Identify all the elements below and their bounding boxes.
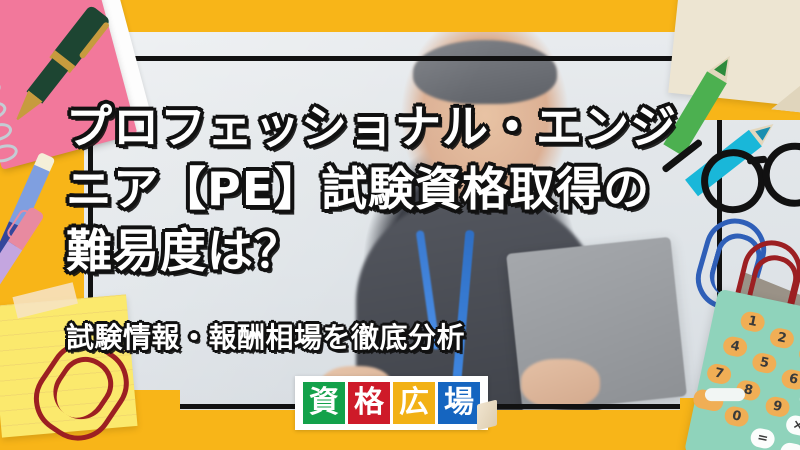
headline-block: プロフェッショナル・エンジ ニア【PE】試験資格取得の 難易度は？: [66, 96, 746, 282]
calc-key-0: 0: [723, 405, 750, 429]
logo-char-4: 場: [438, 382, 480, 424]
calc-key-equals: =: [749, 427, 776, 450]
calc-key-multiply: ×: [784, 414, 800, 438]
logo-char-3: 広: [393, 382, 435, 424]
subtitle: 試験情報・報酬相場を徹底分析: [66, 318, 465, 358]
banner-root: プロフェッショナル・エンジ ニア【PE】試験資格取得の 難易度は？ 試験情報・報…: [0, 0, 800, 450]
calc-key-2: 2: [768, 326, 795, 350]
logo-page-flap: [477, 400, 497, 431]
headline-line-3: 難易度は？: [66, 220, 746, 282]
logo-char-1: 資: [303, 382, 345, 424]
site-logo[interactable]: 資 格 広 場: [295, 376, 488, 430]
calc-key-1: 1: [739, 310, 766, 334]
paper-sheet: [668, 0, 800, 107]
calculator-keypad: 1 2 3 4 5 6 7 8 9 0 ÷ × = −: [697, 306, 800, 450]
cream-paper: [668, 0, 800, 107]
calc-key-4: 4: [721, 335, 748, 359]
headline-line-2: ニア【PE】試験資格取得の: [66, 158, 746, 220]
logo-char-2: 格: [348, 382, 390, 424]
calc-key-minus: −: [779, 441, 800, 450]
calc-key-5: 5: [751, 351, 778, 375]
calc-key-7: 7: [705, 362, 732, 386]
glasses-right-lens: [760, 140, 800, 210]
headline-line-1: プロフェッショナル・エンジ: [66, 96, 746, 158]
calculator-screen: [705, 388, 745, 401]
calc-key-9: 9: [764, 395, 791, 419]
calc-key-6: 6: [780, 368, 800, 392]
